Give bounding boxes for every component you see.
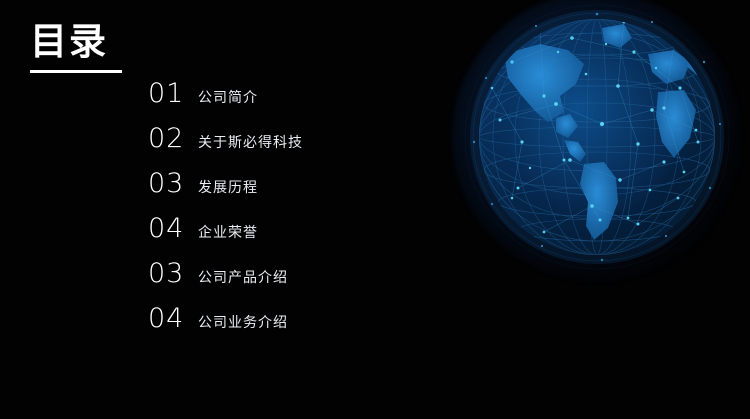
agenda-item-number: 04 (148, 213, 198, 244)
page-title: 目录 (30, 20, 122, 64)
list-item[interactable]: 03 发展历程 (148, 168, 478, 213)
list-item[interactable]: 04 公司业务介绍 (148, 303, 478, 348)
list-item[interactable]: 01 公司简介 (148, 78, 478, 123)
agenda-item-label: 企业荣誉 (198, 222, 258, 242)
globe-icon (452, 0, 742, 282)
title-underline (30, 70, 122, 73)
globe-network-illustration (452, 0, 742, 282)
agenda-item-label: 公司产品介绍 (198, 267, 288, 287)
agenda-list: 01 公司简介 02 关于斯必得科技 03 发展历程 04 企业荣誉 03 公司… (148, 78, 478, 348)
agenda-item-label: 公司简介 (198, 87, 258, 107)
list-item[interactable]: 04 企业荣誉 (148, 213, 478, 258)
agenda-item-label: 发展历程 (198, 177, 258, 197)
list-item[interactable]: 02 关于斯必得科技 (148, 123, 478, 168)
agenda-item-number: 04 (148, 303, 198, 334)
agenda-item-label: 关于斯必得科技 (198, 132, 303, 152)
agenda-item-number: 02 (148, 123, 198, 154)
list-item[interactable]: 03 公司产品介绍 (148, 258, 478, 303)
slide-root: 目录 01 公司简介 02 关于斯必得科技 03 发展历程 04 企业荣誉 03… (0, 0, 750, 419)
agenda-item-number: 01 (148, 78, 198, 109)
agenda-item-number: 03 (148, 258, 198, 289)
agenda-item-number: 03 (148, 168, 198, 199)
agenda-item-label: 公司业务介绍 (198, 312, 288, 332)
page-title-block: 目录 (30, 20, 122, 73)
